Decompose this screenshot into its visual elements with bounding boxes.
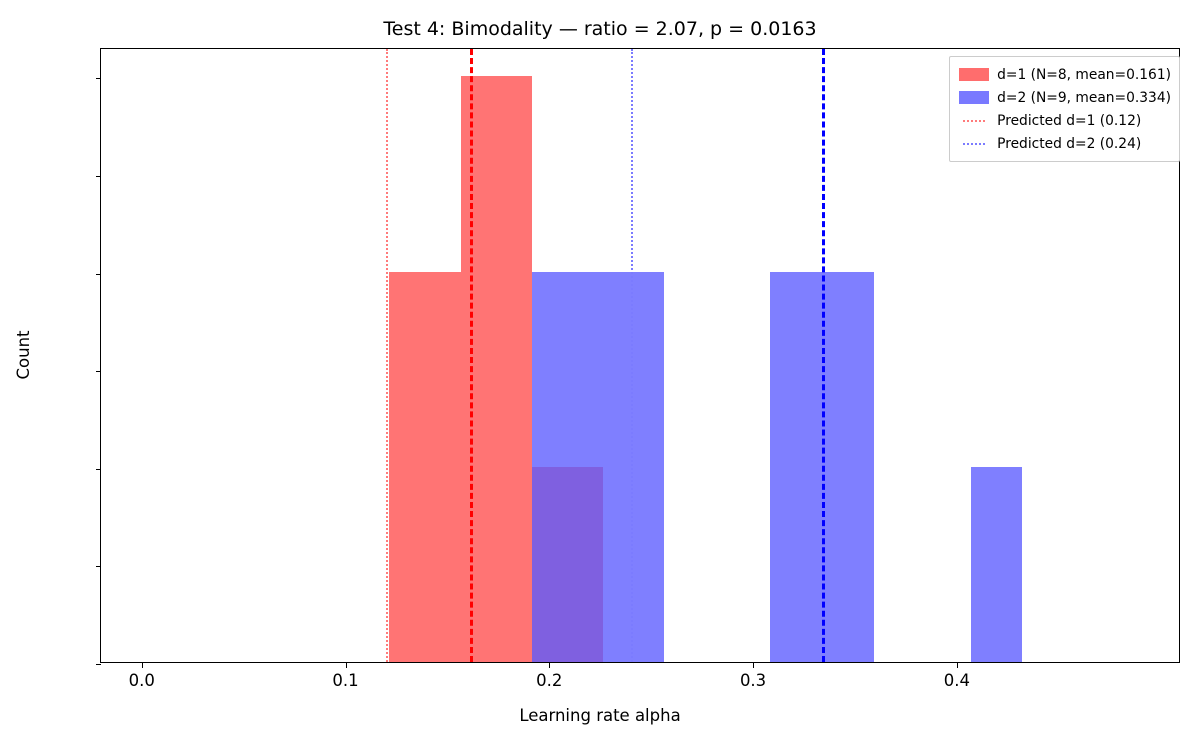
x-tick-mark bbox=[346, 662, 347, 668]
legend-swatch-icon bbox=[957, 63, 991, 86]
histogram-bar bbox=[532, 272, 664, 662]
legend-item[interactable]: d=1 (N=8, mean=0.161) bbox=[957, 63, 1171, 86]
reference-line bbox=[631, 49, 633, 662]
x-tick-mark bbox=[142, 662, 143, 668]
legend-key-mark bbox=[959, 68, 989, 81]
reference-line bbox=[822, 49, 825, 662]
legend-key-mark bbox=[959, 91, 989, 104]
y-tick-mark bbox=[96, 469, 102, 470]
histogram-bar bbox=[971, 467, 1022, 662]
figure: Test 4: Bimodality — ratio = 2.07, p = 0… bbox=[0, 0, 1200, 750]
reference-line bbox=[470, 49, 473, 662]
legend-key-mark bbox=[963, 143, 985, 145]
x-tick-label: 0.3 bbox=[740, 671, 766, 690]
x-tick-label: 0.1 bbox=[332, 671, 358, 690]
y-tick-mark bbox=[96, 78, 102, 79]
x-tick-mark bbox=[549, 662, 550, 668]
chart-title: Test 4: Bimodality — ratio = 2.07, p = 0… bbox=[0, 18, 1200, 40]
legend-key-mark bbox=[963, 120, 985, 122]
legend-item[interactable]: Predicted d=1 (0.12) bbox=[957, 109, 1171, 132]
y-tick-mark bbox=[96, 664, 102, 665]
x-tick-label: 0.0 bbox=[129, 671, 155, 690]
x-axis-label: Learning rate alpha bbox=[0, 706, 1200, 725]
legend-label: d=1 (N=8, mean=0.161) bbox=[991, 67, 1171, 83]
legend-label: Predicted d=2 (0.24) bbox=[991, 136, 1141, 152]
x-tick-label: 0.4 bbox=[944, 671, 970, 690]
legend-label: d=2 (N=9, mean=0.334) bbox=[991, 90, 1171, 106]
legend-item[interactable]: d=2 (N=9, mean=0.334) bbox=[957, 86, 1171, 109]
y-tick-mark bbox=[96, 176, 102, 177]
x-tick-mark bbox=[753, 662, 754, 668]
y-tick-mark bbox=[96, 371, 102, 372]
x-tick-label: 0.2 bbox=[536, 671, 562, 690]
legend-dotted-line-icon bbox=[957, 109, 991, 132]
legend: d=1 (N=8, mean=0.161)d=2 (N=9, mean=0.33… bbox=[949, 56, 1180, 162]
legend-label: Predicted d=1 (0.12) bbox=[991, 113, 1141, 129]
y-tick-mark bbox=[96, 274, 102, 275]
legend-item[interactable]: Predicted d=2 (0.24) bbox=[957, 132, 1171, 155]
y-tick-mark bbox=[96, 566, 102, 567]
reference-line bbox=[386, 49, 388, 662]
x-tick-mark bbox=[957, 662, 958, 668]
y-axis-label: Count bbox=[14, 330, 33, 379]
histogram-bar bbox=[389, 272, 460, 662]
legend-dotted-line-icon bbox=[957, 132, 991, 155]
legend-swatch-icon bbox=[957, 86, 991, 109]
